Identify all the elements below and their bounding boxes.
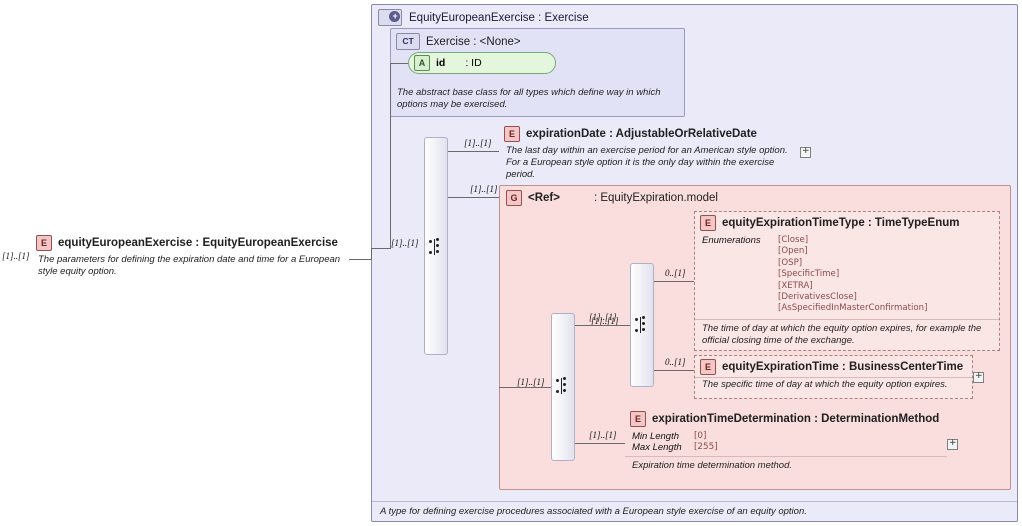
sequence-inner-glyph — [556, 377, 570, 395]
enumerations-values: [Close] [Open] [OSP] [SpecificTime] [XET… — [778, 235, 927, 315]
connector-root-bend — [371, 248, 372, 260]
node-equity-european-exercise[interactable]: E equityEuropeanExercise : EquityEuropea… — [31, 232, 349, 286]
node-eee-title: equityEuropeanExercise : EquityEuropeanE… — [58, 237, 338, 249]
complex-type-title: EquityEuropeanExercise : Exercise — [409, 12, 589, 24]
node-timetype-title: equityExpirationTimeType : TimeTypeEnum — [722, 217, 960, 229]
facet-key: Min Length — [632, 431, 694, 442]
node-expiration-date-header: E expirationDate : AdjustableOrRelativeD… — [499, 123, 800, 144]
node-determination-header: E expirationTimeDetermination : Determin… — [625, 408, 947, 429]
node-exercise-annotation: The abstract base class for all types wh… — [391, 85, 684, 114]
enum-value: [Close] — [778, 235, 927, 246]
node-expiration-time-title: equityExpirationTime : BusinessCenterTim… — [722, 361, 963, 373]
attribute-id-name: id — [436, 57, 445, 69]
node-eee-annotation: The parameters for defining the expirati… — [31, 253, 349, 281]
occurrence-root-sequence: [1]..[1] — [391, 238, 419, 248]
element-icon: E — [700, 359, 716, 375]
node-timetype-annotation: The time of day at which the equity opti… — [695, 319, 999, 350]
group-ref-label: <Ref> — [528, 192, 560, 204]
connector-mid-to-timetype — [654, 281, 694, 282]
connector-root-seq-in — [371, 248, 391, 249]
connector-inner-to-determination — [575, 443, 625, 444]
occurrence-inner-to-mid: [1]..[1] — [589, 312, 617, 322]
facet-row: Min Length [0] — [632, 431, 941, 442]
node-equity-expiration-time[interactable]: E equityExpirationTime : BusinessCenterT… — [694, 355, 973, 399]
group-header: G <Ref> : EquityExpiration.model — [500, 186, 1010, 209]
occurrence-expiration-time-type: 0..[1] — [665, 268, 686, 278]
connector-exercise-vertical — [390, 63, 391, 248]
occurrence-expiration-time-determination: [1]..[1] — [589, 430, 617, 440]
group-title: : EquityExpiration.model — [594, 192, 718, 204]
connector-eee-right — [349, 259, 371, 260]
sequence-root-glyph — [429, 238, 443, 256]
attribute-id[interactable]: A id : ID — [408, 52, 556, 74]
element-icon: E — [700, 215, 716, 231]
facet-key: Max Length — [632, 442, 694, 453]
node-expiration-time-annotation: The specific time of day at which the eq… — [695, 377, 972, 394]
enum-value: [AsSpecifiedInMasterConfirmation] — [778, 303, 927, 314]
enum-value: [SpecificTime] — [778, 269, 927, 280]
facet-value: [255] — [694, 442, 718, 453]
enum-value: [OSP] — [778, 258, 927, 269]
element-icon: E — [504, 126, 520, 142]
node-determination-title: expirationTimeDetermination : Determinat… — [652, 413, 939, 425]
enum-value: [Open] — [778, 246, 927, 257]
node-equity-expiration-time-type[interactable]: E equityExpirationTimeType : TimeTypeEnu… — [694, 211, 1000, 351]
node-expiration-time-header: E equityExpirationTime : BusinessCenterT… — [695, 356, 972, 377]
occurrence-expiration-time: 0..[1] — [665, 357, 686, 367]
occurrence-group: [1]..[1] — [470, 184, 498, 194]
sequence-mid-glyph — [635, 316, 649, 334]
occurrence-inner-sequence: [1]..[1] — [517, 377, 545, 387]
enum-value: [XETRA] — [778, 281, 927, 292]
connector-root-to-expdate — [448, 151, 499, 152]
expand-expiration-time-icon[interactable] — [973, 372, 984, 383]
connector-mid-to-time — [654, 370, 694, 371]
facet-value: [0] — [694, 431, 706, 442]
node-expiration-date-title: expirationDate : AdjustableOrRelativeDat… — [526, 128, 757, 140]
group-icon: G — [506, 190, 522, 206]
enum-value: [DerivativesClose] — [778, 292, 927, 303]
occurrence-left-node: [1]..[1] — [2, 251, 30, 261]
enumerations-table: Enumerations [Close] [Open] [OSP] [Speci… — [695, 233, 999, 315]
occurrence-expiration-date: [1]..[1] — [464, 138, 492, 148]
node-expiration-date-annotation: The last day within an exercise period f… — [499, 144, 800, 184]
node-determination-annotation: Expiration time determination method. — [625, 456, 947, 475]
node-exercise-header: CT Exercise : <None> — [391, 29, 684, 52]
node-expiration-time-determination[interactable]: E expirationTimeDetermination : Determin… — [625, 408, 947, 477]
complextype-icon: CT — [396, 33, 420, 50]
facet-row: Max Length [255] — [632, 442, 941, 453]
node-expiration-date[interactable]: E expirationDate : AdjustableOrRelativeD… — [499, 123, 800, 179]
connector-root-to-group — [448, 197, 499, 198]
node-exercise-title: Exercise : <None> — [426, 36, 521, 48]
expand-determination-icon[interactable] — [947, 439, 958, 450]
complextype-expand-icon[interactable] — [378, 9, 402, 26]
connector-exercise-to-attr — [390, 63, 408, 64]
attribute-id-type: : ID — [465, 57, 481, 69]
element-icon: E — [36, 235, 52, 251]
expand-expiration-date-icon[interactable] — [800, 147, 811, 158]
element-icon: E — [630, 411, 646, 427]
complex-type-header: EquityEuropeanExercise : Exercise — [372, 5, 1017, 29]
connector-inner-to-mid — [575, 325, 630, 326]
diagram-footer-annotation: A type for defining exercise procedures … — [372, 501, 1017, 521]
node-timetype-header: E equityExpirationTimeType : TimeTypeEnu… — [695, 212, 999, 233]
connector-group-to-inner — [499, 387, 551, 388]
attribute-icon: A — [414, 55, 430, 71]
enumerations-label: Enumerations — [702, 235, 778, 315]
node-eee-header: E equityEuropeanExercise : EquityEuropea… — [31, 232, 349, 253]
facets-table: Min Length [0] Max Length [255] — [625, 429, 947, 453]
